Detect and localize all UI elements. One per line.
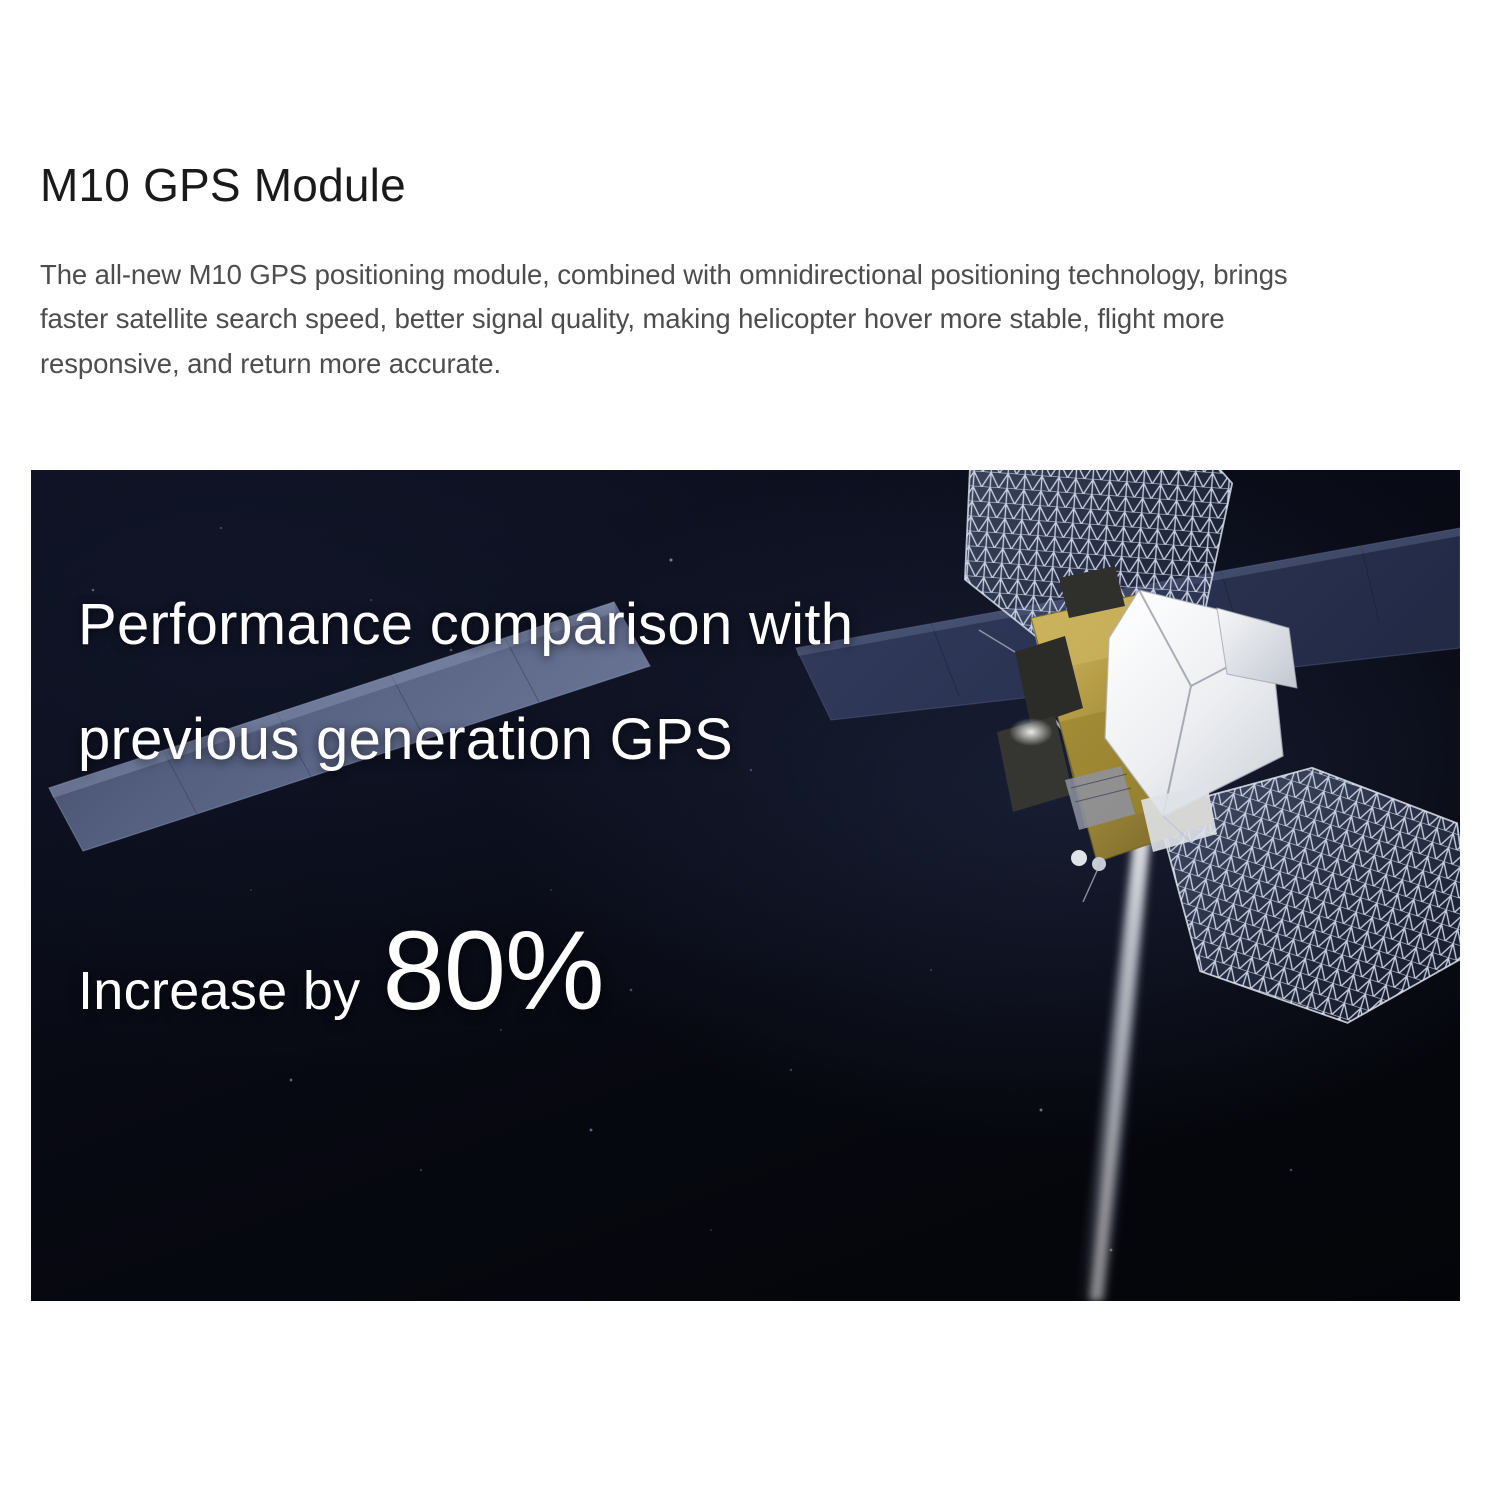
page-description: The all-new M10 GPS positioning module, … [40,253,1290,387]
product-feature-page: M10 GPS Module The all-new M10 GPS posit… [0,0,1500,1500]
hero-banner: Performance comparison with previous gen… [31,470,1460,1301]
page-title: M10 GPS Module [40,160,1310,211]
hero-copy: Performance comparison with previous gen… [78,470,853,1035]
header-text-block: M10 GPS Module The all-new M10 GPS posit… [40,160,1310,386]
hero-stat: Increase by 80% [78,906,853,1035]
hero-stat-value: 80% [382,906,603,1035]
hero-headline-line-1: Performance comparison with [78,568,853,683]
hero-headline-line-2: previous generation GPS [78,683,853,798]
hero-stat-label: Increase by [78,960,360,1022]
